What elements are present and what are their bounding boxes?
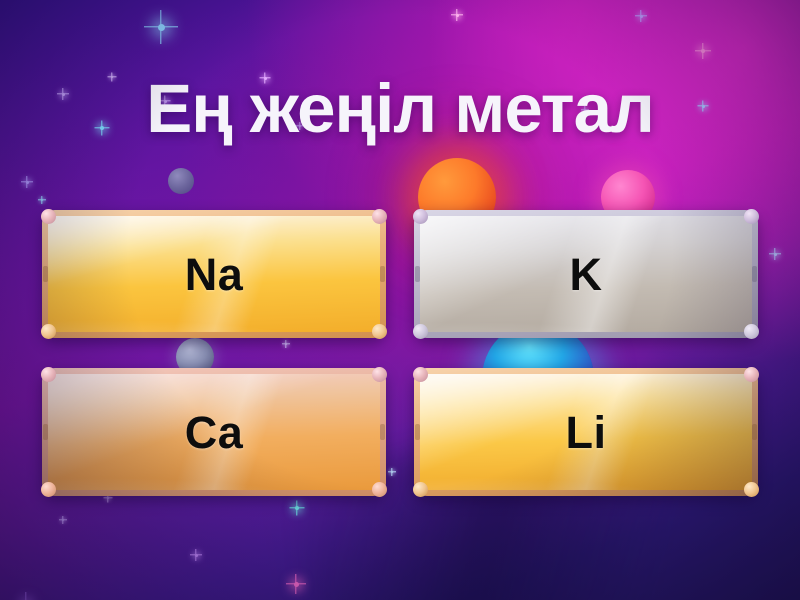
- stud-icon: [372, 324, 387, 339]
- stud-icon: [41, 482, 56, 497]
- frame-notch-icon: [380, 266, 385, 282]
- stud-icon: [41, 324, 56, 339]
- frame-notch-icon: [415, 424, 420, 440]
- answer-option-ca[interactable]: Ca: [42, 368, 386, 496]
- star-icon: [456, 14, 459, 17]
- stud-icon: [744, 324, 759, 339]
- stud-icon: [744, 482, 759, 497]
- quiz-slide: Ең жеңіл метал Na K: [0, 0, 800, 600]
- star-icon: [158, 24, 165, 31]
- frame-notch-icon: [43, 266, 48, 282]
- answer-option-k[interactable]: K: [414, 210, 758, 338]
- stud-icon: [413, 482, 428, 497]
- answer-label: Ca: [185, 410, 244, 455]
- answer-face: Li: [420, 374, 752, 490]
- stud-icon: [744, 367, 759, 382]
- star-icon: [195, 554, 198, 557]
- star-icon: [294, 582, 299, 587]
- answer-face: Ca: [48, 374, 380, 490]
- stud-icon: [413, 209, 428, 224]
- frame-notch-icon: [380, 424, 385, 440]
- stud-icon: [41, 209, 56, 224]
- stud-icon: [372, 367, 387, 382]
- star-icon: [107, 497, 109, 499]
- answer-label: Li: [566, 410, 607, 455]
- stud-icon: [372, 209, 387, 224]
- answer-option-li[interactable]: Li: [414, 368, 758, 496]
- frame-notch-icon: [43, 424, 48, 440]
- stud-icon: [413, 324, 428, 339]
- star-icon: [774, 253, 777, 256]
- stud-icon: [41, 367, 56, 382]
- answer-face: K: [420, 216, 752, 332]
- small-gray-planet-icon: [168, 168, 194, 194]
- answer-option-na[interactable]: Na: [42, 210, 386, 338]
- answers-grid: Na K Ca: [42, 210, 758, 496]
- frame-notch-icon: [415, 266, 420, 282]
- frame-notch-icon: [752, 266, 757, 282]
- stud-icon: [744, 209, 759, 224]
- star-icon: [62, 519, 64, 521]
- answer-face: Na: [48, 216, 380, 332]
- stud-icon: [372, 482, 387, 497]
- page-title: Ең жеңіл метал: [0, 74, 800, 143]
- star-icon: [26, 181, 29, 184]
- star-icon: [640, 15, 643, 18]
- star-icon: [41, 199, 43, 201]
- stud-icon: [413, 367, 428, 382]
- star-icon: [701, 49, 705, 53]
- answer-label: K: [570, 252, 603, 297]
- answer-label: Na: [185, 252, 244, 297]
- frame-notch-icon: [752, 424, 757, 440]
- star-icon: [295, 506, 299, 510]
